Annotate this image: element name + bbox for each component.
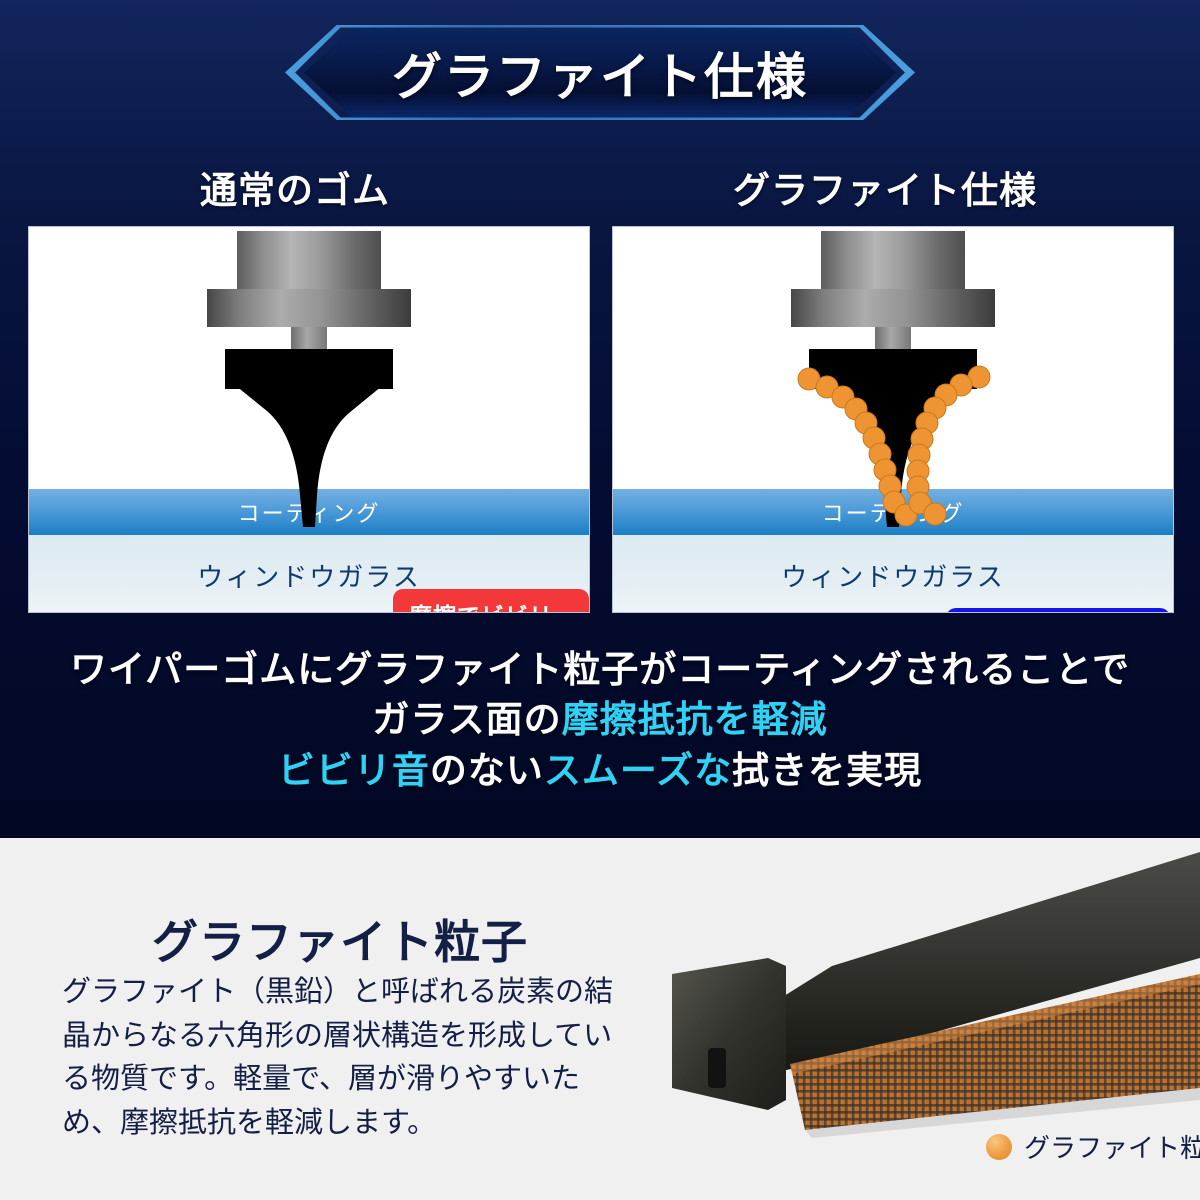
legend-label: グラファイト粒子 bbox=[1024, 1128, 1200, 1165]
summary-line-2-highlight: 摩擦抵抗を軽減 bbox=[562, 699, 828, 740]
diagram-panel-normal-rubber: ウィンドウガラス コーティング 摩擦抵抗が大きい 摩擦でビビリ音 bbox=[28, 226, 590, 613]
summary-line-3-highlight-1: ビビリ音 bbox=[278, 750, 430, 791]
infographic-page: グラファイト仕様 通常のゴム グラファイト仕様 ウィンドウガラス コーティング bbox=[0, 0, 1200, 1200]
graphite-particles-icon bbox=[613, 227, 1173, 537]
right-panel-heading: グラファイト仕様 bbox=[733, 160, 1037, 214]
left-panel-heading: 通常のゴム bbox=[200, 160, 390, 214]
wiper-cylinder-icon bbox=[237, 231, 381, 289]
friction-spark-icon bbox=[329, 607, 519, 613]
wiper-flange-icon bbox=[207, 289, 411, 327]
banner-title-text: グラファイト仕様 bbox=[285, 25, 915, 120]
summary-line-3-highlight-2: スムーズな bbox=[544, 750, 732, 791]
wiper-blade-rubber-icon bbox=[199, 377, 419, 527]
summary-line-3: ビビリ音のないスムーズな拭きを実現 bbox=[0, 746, 1200, 796]
summary-line-3-b: 拭きを実現 bbox=[732, 750, 922, 791]
summary-line-2: ガラス面の摩擦抵抗を軽減 bbox=[0, 695, 1200, 745]
title-banner: グラファイト仕様 bbox=[285, 25, 915, 120]
top-section: グラファイト仕様 通常のゴム グラファイト仕様 ウィンドウガラス コーティング bbox=[0, 0, 1200, 838]
diagram-panel-graphite: ウィンドウガラス コーティング bbox=[612, 226, 1174, 613]
graphite-legend: グラファイト粒子 bbox=[986, 1128, 1200, 1165]
legend-graphite-dot-icon bbox=[986, 1134, 1012, 1160]
summary-text: ワイパーゴムにグラファイト粒子がコーティングされることで ガラス面の摩擦抵抗を軽… bbox=[0, 645, 1200, 796]
summary-line-3-a: のない bbox=[430, 750, 544, 791]
bottom-section: グラファイト粒子 グラファイト（黒鉛）と呼ばれる炭素の結晶からなる六角形の層状構… bbox=[0, 838, 1200, 1200]
summary-line-1: ワイパーゴムにグラファイト粒子がコーティングされることで bbox=[0, 645, 1200, 695]
bottom-section-title: グラファイト粒子 bbox=[152, 906, 528, 972]
low-friction-badge: 摩擦抵抗が少ない bbox=[946, 608, 1170, 613]
wiper-neck-icon bbox=[291, 327, 327, 351]
wiper-assembly-left bbox=[199, 227, 419, 527]
bottom-section-body: グラファイト（黒鉛）と呼ばれる炭素の結晶からなる六角形の層状構造を形成している物… bbox=[62, 971, 630, 1145]
glass-layer-right: ウィンドウガラス bbox=[613, 535, 1173, 612]
summary-line-2-a: ガラス面の bbox=[372, 699, 561, 740]
glass-label-right: ウィンドウガラス bbox=[613, 557, 1173, 594]
